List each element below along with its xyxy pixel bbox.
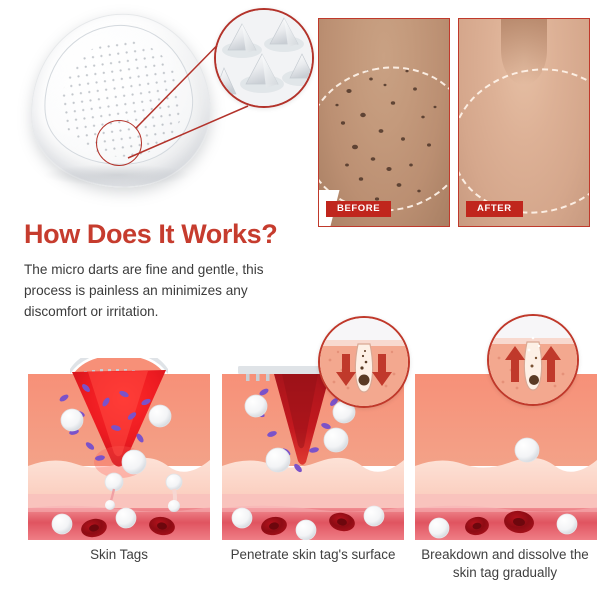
process-diagram-panels bbox=[0, 330, 600, 545]
after-photo-card: AFTER bbox=[458, 18, 590, 227]
patch-zoom-target-circle bbox=[96, 120, 142, 166]
clogged-pore-diagram bbox=[320, 318, 408, 406]
process-panel-3 bbox=[415, 358, 597, 540]
after-badge: AFTER bbox=[466, 201, 523, 218]
caption-step-2: Penetrate skin tag's surface bbox=[218, 546, 408, 564]
pore-inset-penetration bbox=[318, 316, 410, 408]
headline-body-text: The micro darts are fine and gentle, thi… bbox=[24, 259, 314, 322]
magnified-pyramid-darts bbox=[216, 10, 312, 106]
caption-step-3: Breakdown and dissolve the skin tag grad… bbox=[410, 546, 600, 582]
before-badge: BEFORE bbox=[326, 201, 391, 218]
skin-tag-spots bbox=[319, 19, 449, 226]
pore-inset-dissolving bbox=[487, 314, 579, 406]
process-panel-1 bbox=[28, 358, 210, 540]
caption-step-1: Skin Tags bbox=[28, 546, 210, 564]
before-photo-card: BEFORE bbox=[318, 18, 450, 227]
pore-dissolving-diagram bbox=[489, 316, 577, 404]
page-title: How Does It Works? bbox=[24, 220, 324, 250]
headline-block: How Does It Works? The micro darts are f… bbox=[24, 220, 324, 322]
step-captions: Skin Tags Penetrate skin tag's surface B… bbox=[0, 546, 600, 600]
microdart-magnifier-circle bbox=[214, 8, 314, 108]
skin-cross-section-1 bbox=[28, 358, 210, 540]
patch-drop-shadow bbox=[42, 164, 192, 186]
before-after-comparison: BEFORE AFTER bbox=[318, 18, 596, 228]
neck-shadow bbox=[501, 18, 547, 85]
process-panel-2 bbox=[222, 358, 404, 540]
product-illustration bbox=[8, 2, 308, 207]
